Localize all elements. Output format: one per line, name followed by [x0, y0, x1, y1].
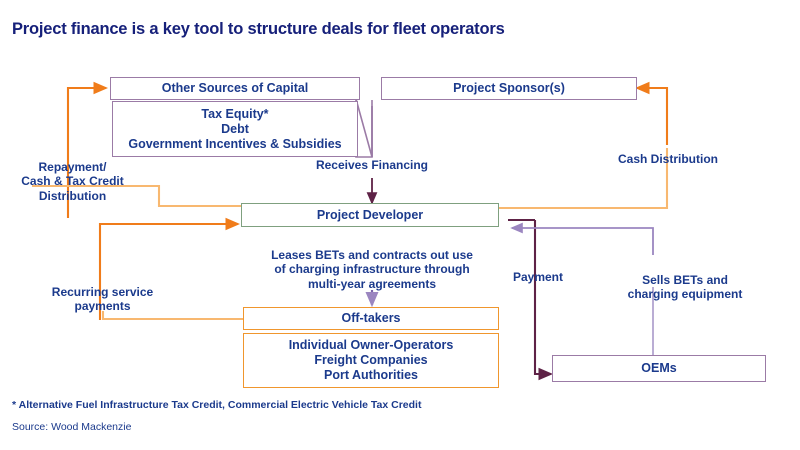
wire-receives-financing [356, 99, 372, 203]
box-offtakers-items-label: Individual Owner-Operators Freight Compa… [289, 338, 454, 383]
box-other-sources-of-capital[interactable]: Other Sources of Capital [110, 77, 360, 100]
caption-recurring-service: Recurring service payments [30, 270, 175, 314]
diagram-canvas: Project finance is a key tool to structu… [0, 0, 800, 450]
footnote-asterisk-text: * Alternative Fuel Infrastructure Tax Cr… [12, 399, 421, 411]
caption-cash-distribution-text: Cash Distribution [618, 152, 718, 166]
box-project-developer-label: Project Developer [317, 208, 423, 223]
source-line: Source: Wood Mackenzie [12, 421, 131, 433]
box-project-sponsor-label: Project Sponsor(s) [453, 81, 565, 96]
box-other-sources-items[interactable]: Tax Equity* Debt Government Incentives &… [112, 101, 358, 157]
box-oems-label: OEMs [641, 361, 676, 376]
box-oems[interactable]: OEMs [552, 355, 766, 382]
box-offtakers-label: Off-takers [341, 311, 400, 326]
caption-payment-text: Payment [513, 270, 563, 284]
wire-payment [508, 220, 551, 374]
box-other-sources-items-label: Tax Equity* Debt Government Incentives &… [128, 107, 341, 152]
page-title: Project finance is a key tool to structu… [12, 20, 505, 39]
caption-cash-distribution: Cash Distribution [596, 152, 740, 167]
caption-repayment: Repayment/ Cash & Tax Credit Distributio… [5, 145, 140, 203]
caption-recurring-service-text: Recurring service payments [52, 285, 153, 314]
wire-cash-distribution [497, 88, 667, 208]
box-offtakers[interactable]: Off-takers [243, 307, 499, 330]
source-text: Source: Wood Mackenzie [12, 421, 131, 433]
box-project-sponsor[interactable]: Project Sponsor(s) [381, 77, 637, 100]
caption-sells-bets: Sells BETs and charging equipment [611, 258, 759, 302]
caption-leases-text: Leases BETs and contracts out use of cha… [271, 248, 473, 291]
box-project-developer[interactable]: Project Developer [241, 203, 499, 227]
caption-leases: Leases BETs and contracts out use of cha… [242, 233, 502, 291]
box-offtakers-items[interactable]: Individual Owner-Operators Freight Compa… [243, 333, 499, 388]
caption-receives-financing: Receives Financing [292, 158, 452, 173]
caption-payment: Payment [498, 270, 578, 285]
footnote-asterisk: * Alternative Fuel Infrastructure Tax Cr… [12, 399, 421, 411]
box-other-sources-label: Other Sources of Capital [162, 81, 309, 96]
caption-repayment-text: Repayment/ Cash & Tax Credit Distributio… [21, 160, 123, 203]
caption-sells-bets-text: Sells BETs and charging equipment [628, 273, 743, 302]
caption-receives-financing-text: Receives Financing [316, 158, 428, 172]
